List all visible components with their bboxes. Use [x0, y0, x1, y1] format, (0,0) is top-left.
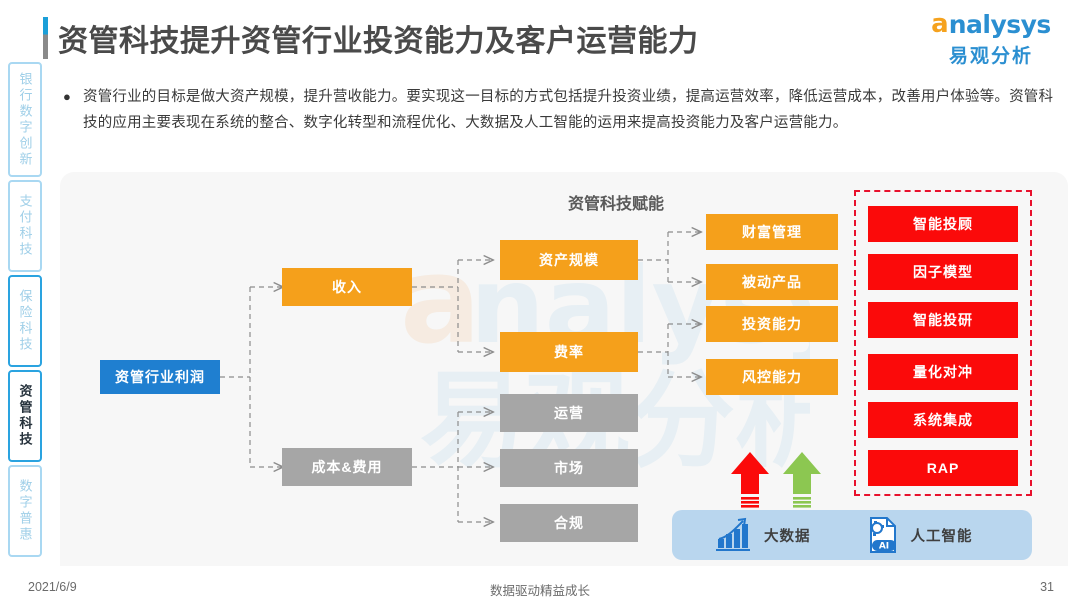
title-accent-bar [43, 17, 48, 59]
bar-chart-growth-icon [714, 517, 754, 553]
enabler-panel: 大数据 AI 人工智能 [672, 510, 1032, 560]
node-passive-products[interactable]: 被动产品 [706, 264, 838, 300]
node-investment-capability[interactable]: 投资能力 [706, 306, 838, 342]
page-title: 资管科技提升资管行业投资能力及客户运营能力 [58, 16, 699, 60]
logo-chinese: 易观分析 [949, 41, 1033, 68]
node-asset-scale[interactable]: 资产规模 [500, 240, 638, 280]
enabler-ai[interactable]: AI 人工智能 [863, 515, 973, 555]
bullet-dot-icon: ● [63, 84, 83, 136]
node-factor-model[interactable]: 因子模型 [868, 254, 1018, 290]
node-asset-mgmt-profit[interactable]: 资管行业利润 [100, 360, 220, 394]
node-system-integration[interactable]: 系统集成 [868, 402, 1018, 438]
node-cost-expense[interactable]: 成本&费用 [282, 448, 412, 486]
node-quant-hedging[interactable]: 量化对冲 [868, 354, 1018, 390]
green-up-arrow-icon [780, 450, 824, 508]
svg-text:AI: AI [878, 542, 888, 552]
node-label: 系统集成 [913, 410, 973, 430]
sidebar-item-label: 银行数字创新 [16, 72, 35, 168]
sidebar-tabs: 银行数字创新 支付科技 保险科技 资管科技 数字普惠 [8, 62, 42, 560]
bullet-paragraph: ● 资管行业的目标是做大资产规模，提升营收能力。要实现这一目标的方式包括提升投资… [63, 84, 1063, 136]
node-label: 财富管理 [742, 222, 802, 242]
analysys-logo: a nalysys 易观分析 [916, 10, 1066, 68]
node-label: 量化对冲 [913, 362, 973, 382]
node-market[interactable]: 市场 [500, 449, 638, 487]
sidebar-item-label: 保险科技 [16, 289, 35, 353]
svg-text:a: a [400, 232, 481, 371]
sidebar-item-payment[interactable]: 支付科技 [8, 180, 42, 272]
node-label: 合规 [554, 513, 584, 533]
diagram-title: 资管科技赋能 [568, 190, 664, 214]
node-label: RAP [927, 460, 960, 476]
node-revenue[interactable]: 收入 [282, 268, 412, 306]
node-label: 收入 [332, 277, 362, 297]
node-rap[interactable]: RAP [868, 450, 1018, 486]
node-label: 市场 [554, 458, 584, 478]
footer-page-number: 31 [1040, 580, 1054, 594]
sidebar-item-inclusive[interactable]: 数字普惠 [8, 465, 42, 557]
sidebar-item-bank[interactable]: 银行数字创新 [8, 62, 42, 177]
enabler-label: 大数据 [764, 525, 811, 546]
ai-document-icon: AI [863, 515, 901, 555]
red-up-arrow-icon [728, 450, 772, 508]
node-label: 资产规模 [539, 250, 599, 270]
diagram-card: a nalysys 易观分析 [60, 172, 1068, 566]
node-compliance[interactable]: 合规 [500, 504, 638, 542]
sidebar-item-label: 支付科技 [16, 194, 35, 258]
sidebar-item-label: 数字普惠 [16, 479, 35, 543]
node-label: 被动产品 [742, 272, 802, 292]
footer-slogan: 数据驱动精益成长 [0, 580, 1080, 599]
node-operations[interactable]: 运营 [500, 394, 638, 432]
bullet-text: 资管行业的目标是做大资产规模，提升营收能力。要实现这一目标的方式包括提升投资业绩… [83, 84, 1063, 136]
logo-a-icon: a [931, 11, 949, 37]
node-label: 智能投研 [913, 310, 973, 330]
enabler-label: 人工智能 [911, 525, 973, 546]
sidebar-item-label: 资管科技 [16, 384, 35, 448]
logo-wordmark: a nalysys [931, 10, 1051, 39]
sidebar-item-assetmgmt[interactable]: 资管科技 [8, 370, 42, 462]
node-smart-research[interactable]: 智能投研 [868, 302, 1018, 338]
node-label: 资管行业利润 [115, 367, 205, 387]
slide-page: a nalysys 易观分析 资管科技提升资管行业投资能力及客户运营能力 ● 资… [0, 0, 1080, 608]
enabler-bigdata[interactable]: 大数据 [714, 517, 811, 553]
node-label: 运营 [554, 403, 584, 423]
footer: 2021/6/9 数据驱动精益成长 31 [0, 580, 1080, 600]
logo-word: nalysys [949, 12, 1051, 37]
node-smart-advisor[interactable]: 智能投顾 [868, 206, 1018, 242]
node-label: 投资能力 [742, 314, 802, 334]
node-label: 因子模型 [913, 262, 973, 282]
node-label: 成本&费用 [311, 457, 382, 477]
node-label: 智能投顾 [913, 214, 973, 234]
node-fee-rate[interactable]: 费率 [500, 332, 638, 372]
sidebar-item-insurance[interactable]: 保险科技 [8, 275, 42, 367]
node-label: 费率 [554, 342, 584, 362]
node-label: 风控能力 [742, 367, 802, 387]
node-wealth-management[interactable]: 财富管理 [706, 214, 838, 250]
node-risk-control-capability[interactable]: 风控能力 [706, 359, 838, 395]
